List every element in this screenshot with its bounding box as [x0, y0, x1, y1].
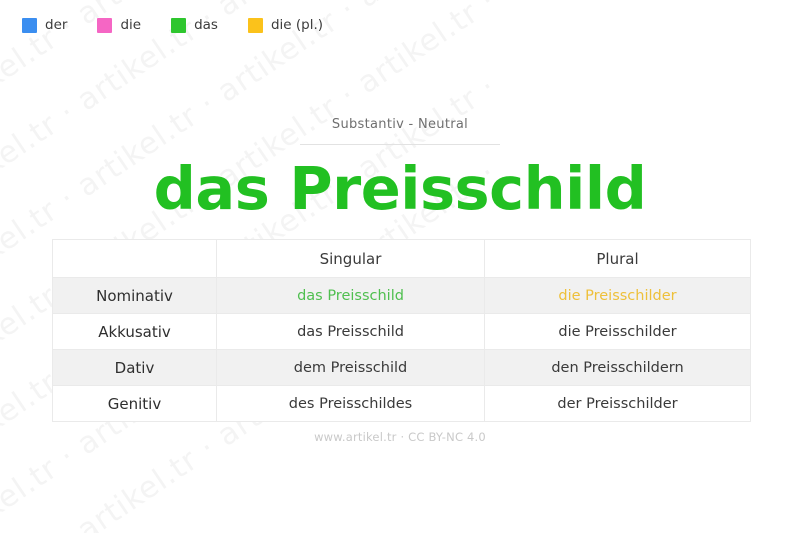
table-row: Akkusativ das Preisschild die Preisschil…	[53, 314, 751, 350]
color-swatch-icon	[22, 18, 37, 33]
legend-item-die-plural: die (pl.)	[248, 18, 323, 33]
table-body: Nominativ das Preisschild die Preisschil…	[53, 278, 751, 422]
case-label-genitiv: Genitiv	[53, 386, 217, 422]
cell-genitiv-singular: des Preisschildes	[217, 386, 485, 422]
noun-declension-card: der die das die (pl.) Substantiv - Neutr…	[0, 0, 800, 533]
case-label-akkusativ: Akkusativ	[53, 314, 217, 350]
column-header-singular: Singular	[217, 240, 485, 278]
table-row: Genitiv des Preisschildes der Preisschil…	[53, 386, 751, 422]
footer-attribution: www.artikel.tr · CC BY-NC 4.0	[0, 430, 800, 444]
color-swatch-icon	[171, 18, 186, 33]
column-header-case	[53, 240, 217, 278]
case-label-dativ: Dativ	[53, 350, 217, 386]
cell-akkusativ-plural: die Preisschilder	[485, 314, 751, 350]
cell-nominativ-singular: das Preisschild	[217, 278, 485, 314]
cell-dativ-plural: den Preisschildern	[485, 350, 751, 386]
word-class-header: Substantiv - Neutral	[300, 117, 500, 145]
legend-label: der	[45, 19, 67, 33]
legend-item-das: das	[171, 18, 218, 33]
legend-label: die (pl.)	[271, 19, 323, 33]
column-header-plural: Plural	[485, 240, 751, 278]
legend-item-der: der	[22, 18, 67, 33]
page-title: das Preisschild	[0, 157, 800, 222]
table-row: Dativ dem Preisschild den Preisschildern	[53, 350, 751, 386]
declension-table: Singular Plural Nominativ das Preisschil…	[52, 239, 751, 422]
legend-label: das	[194, 19, 218, 33]
header-divider	[300, 144, 500, 145]
color-swatch-icon	[248, 18, 263, 33]
cell-genitiv-plural: der Preisschilder	[485, 386, 751, 422]
color-swatch-icon	[97, 18, 112, 33]
table-row: Nominativ das Preisschild die Preisschil…	[53, 278, 751, 314]
cell-dativ-singular: dem Preisschild	[217, 350, 485, 386]
legend-label: die	[120, 19, 141, 33]
table-header-row: Singular Plural	[53, 240, 751, 278]
cell-akkusativ-singular: das Preisschild	[217, 314, 485, 350]
cell-nominativ-plural: die Preisschilder	[485, 278, 751, 314]
table-header: Singular Plural	[53, 240, 751, 278]
case-label-nominativ: Nominativ	[53, 278, 217, 314]
legend-item-die: die	[97, 18, 141, 33]
article-color-legend: der die das die (pl.)	[22, 18, 353, 33]
word-class-label: Substantiv - Neutral	[300, 117, 500, 132]
